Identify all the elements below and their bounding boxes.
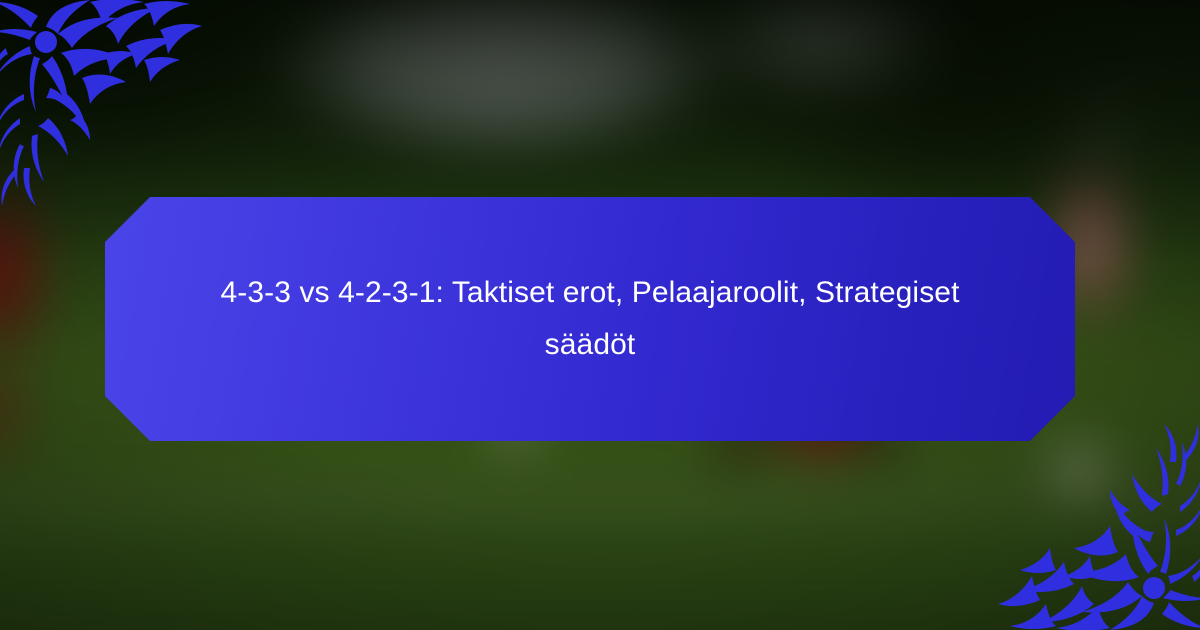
page-title: 4-3-3 vs 4-2-3-1: Taktiset erot, Pelaaja… (210, 267, 970, 371)
banner-card: 4-3-3 vs 4-2-3-1: Taktiset erot, Pelaaja… (0, 0, 1200, 630)
title-banner: 4-3-3 vs 4-2-3-1: Taktiset erot, Pelaaja… (105, 197, 1075, 441)
